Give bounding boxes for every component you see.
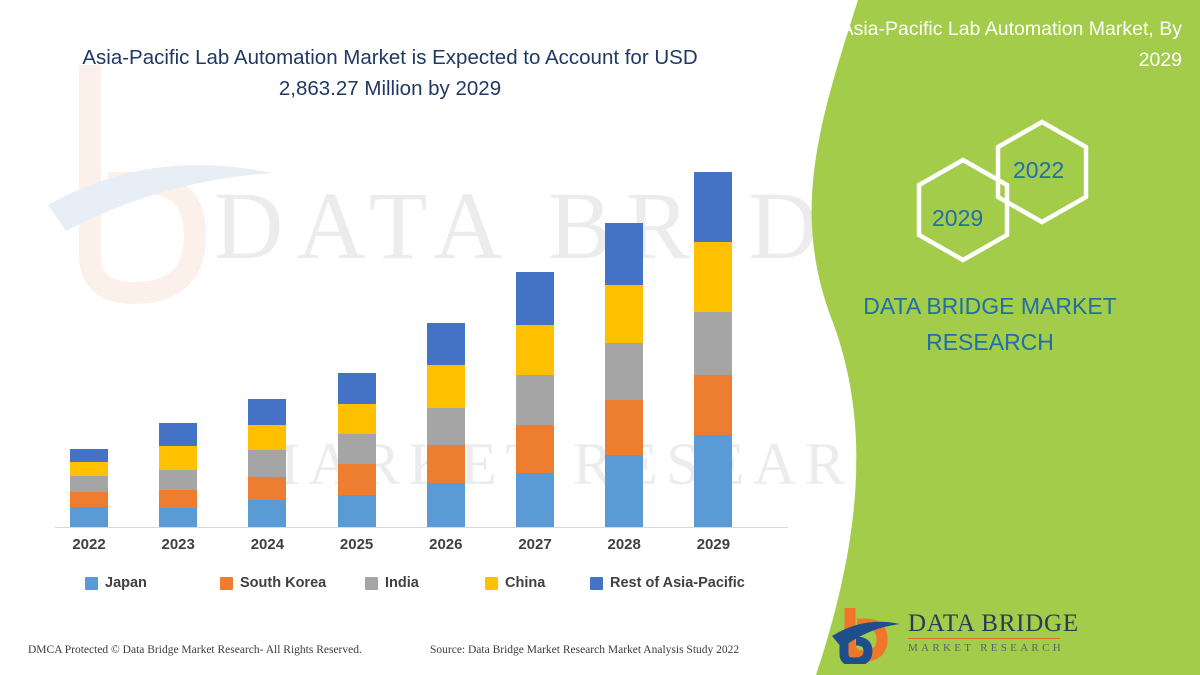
bar-2023[interactable] <box>159 423 197 527</box>
bar-segment-rest-of-asia-pacific-2029[interactable] <box>694 172 732 242</box>
x-tick-2026: 2026 <box>411 536 481 553</box>
hexagon-label-2022: 2022 <box>1013 157 1064 184</box>
bar-2025[interactable] <box>338 373 376 527</box>
copyright-text: DMCA Protected © Data Bridge Market Rese… <box>28 644 362 656</box>
bar-2022[interactable] <box>70 449 108 527</box>
bar-segment-rest-of-asia-pacific-2028[interactable] <box>605 223 643 285</box>
bar-2029[interactable] <box>694 172 732 527</box>
legend-label: China <box>505 575 545 591</box>
bar-segment-india-2024[interactable] <box>248 450 286 477</box>
bar-segment-china-2028[interactable] <box>605 285 643 343</box>
legend-swatch-icon <box>220 577 233 590</box>
bar-segment-south-korea-2024[interactable] <box>248 477 286 500</box>
legend-swatch-icon <box>365 577 378 590</box>
logo-divider <box>908 638 1060 639</box>
bar-segment-japan-2022[interactable] <box>70 507 108 527</box>
bar-segment-south-korea-2022[interactable] <box>70 492 108 507</box>
bar-segment-china-2023[interactable] <box>159 446 197 470</box>
bar-segment-china-2024[interactable] <box>248 425 286 450</box>
bar-segment-japan-2029[interactable] <box>694 435 732 527</box>
x-tick-2029: 2029 <box>678 536 748 553</box>
bar-2028[interactable] <box>605 223 643 527</box>
legend-item-china[interactable]: China <box>485 575 545 591</box>
bar-segment-japan-2026[interactable] <box>427 483 465 527</box>
bar-segment-india-2026[interactable] <box>427 408 465 445</box>
x-axis-line <box>55 527 788 528</box>
bar-2027[interactable] <box>516 272 554 527</box>
bar-segment-china-2025[interactable] <box>338 404 376 434</box>
bar-segment-rest-of-asia-pacific-2025[interactable] <box>338 373 376 404</box>
bar-segment-india-2027[interactable] <box>516 375 554 425</box>
bar-segment-south-korea-2027[interactable] <box>516 425 554 473</box>
green-panel-content: Asia-Pacific Lab Automation Market, By 2… <box>780 0 1200 675</box>
bar-segment-china-2022[interactable] <box>70 462 108 476</box>
bar-segment-rest-of-asia-pacific-2023[interactable] <box>159 423 197 446</box>
bar-segment-south-korea-2026[interactable] <box>427 445 465 483</box>
bar-segment-japan-2024[interactable] <box>248 500 286 527</box>
bar-segment-rest-of-asia-pacific-2026[interactable] <box>427 323 465 365</box>
legend-swatch-icon <box>590 577 603 590</box>
bar-segment-china-2026[interactable] <box>427 365 465 408</box>
legend-item-rest-of-asia-pacific[interactable]: Rest of Asia-Pacific <box>590 575 745 591</box>
panel-brand-text: DATA BRIDGE MARKET RESEARCH <box>780 288 1200 360</box>
chart-legend: JapanSouth KoreaIndiaChinaRest of Asia-P… <box>60 575 760 599</box>
bar-segment-south-korea-2028[interactable] <box>605 400 643 455</box>
x-tick-2027: 2027 <box>500 536 570 553</box>
bar-segment-south-korea-2023[interactable] <box>159 490 197 508</box>
legend-swatch-icon <box>85 577 98 590</box>
databridge-b-icon <box>830 606 902 664</box>
x-tick-2023: 2023 <box>143 536 213 553</box>
legend-label: South Korea <box>240 575 326 591</box>
infographic-canvas: DATA BRIDGE MARKET RESEARCH 202220232024… <box>0 0 1200 675</box>
legend-item-india[interactable]: India <box>365 575 419 591</box>
bar-segment-india-2028[interactable] <box>605 343 643 400</box>
x-tick-2028: 2028 <box>589 536 659 553</box>
bar-segment-south-korea-2025[interactable] <box>338 464 376 495</box>
bar-segment-rest-of-asia-pacific-2024[interactable] <box>248 399 286 425</box>
bar-segment-rest-of-asia-pacific-2027[interactable] <box>516 272 554 325</box>
x-tick-2024: 2024 <box>232 536 302 553</box>
x-tick-2022: 2022 <box>54 536 124 553</box>
bar-segment-india-2022[interactable] <box>70 476 108 492</box>
logo-line-2: MARKET RESEARCH <box>908 640 1079 656</box>
bar-2026[interactable] <box>427 323 465 527</box>
bar-segment-japan-2027[interactable] <box>516 473 554 527</box>
legend-item-south-korea[interactable]: South Korea <box>220 575 326 591</box>
brand-logo: DATA BRIDGE MARKET RESEARCH <box>830 606 1080 666</box>
legend-label: India <box>385 575 419 591</box>
bar-2024[interactable] <box>248 399 286 527</box>
source-text: Source: Data Bridge Market Research Mark… <box>430 644 739 656</box>
bar-segment-japan-2028[interactable] <box>605 455 643 527</box>
x-tick-2025: 2025 <box>322 536 392 553</box>
x-axis-tick-labels: 20222023202420252026202720282029 <box>0 536 800 562</box>
bar-segment-india-2029[interactable] <box>694 312 732 375</box>
logo-line-1: DATA BRIDGE <box>908 610 1079 637</box>
page-title: Asia-Pacific Lab Automation Market is Ex… <box>40 42 740 104</box>
bar-segment-japan-2025[interactable] <box>338 495 376 527</box>
bar-segment-rest-of-asia-pacific-2022[interactable] <box>70 449 108 462</box>
bar-segment-india-2023[interactable] <box>159 470 197 490</box>
legend-label: Japan <box>105 575 147 591</box>
bar-segment-china-2029[interactable] <box>694 242 732 312</box>
bar-segment-south-korea-2029[interactable] <box>694 375 732 435</box>
bar-segment-japan-2023[interactable] <box>159 508 197 527</box>
hexagon-label-2029: 2029 <box>932 205 983 232</box>
hexagon-pair-graphic <box>780 118 1200 263</box>
panel-title: Asia-Pacific Lab Automation Market, By 2… <box>812 14 1182 76</box>
legend-item-japan[interactable]: Japan <box>85 575 147 591</box>
logo-wordmark: DATA BRIDGE MARKET RESEARCH <box>908 610 1079 656</box>
legend-swatch-icon <box>485 577 498 590</box>
bar-segment-india-2025[interactable] <box>338 434 376 464</box>
bar-segment-china-2027[interactable] <box>516 325 554 375</box>
legend-label: Rest of Asia-Pacific <box>610 575 745 591</box>
